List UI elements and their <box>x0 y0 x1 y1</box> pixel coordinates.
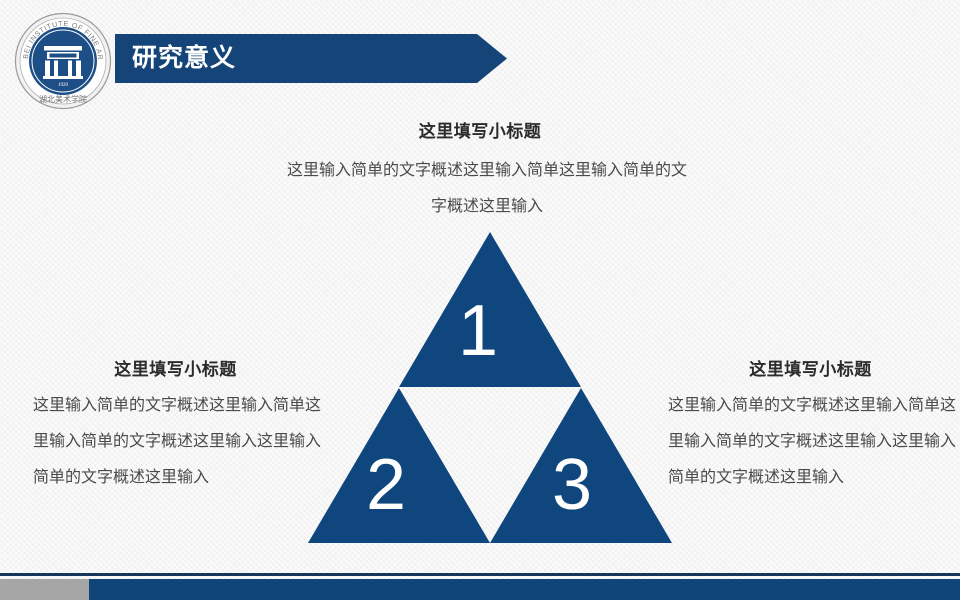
left-block-body: 这里输入简单的文字概述这里输入简单这里输入简单的文字概述这里输入这里输入简单的文… <box>33 388 321 496</box>
left-block-title: 这里填写小标题 <box>33 355 318 380</box>
page-title: 研究意义 <box>132 34 236 83</box>
seal-chinese-name: 湖北美术学院 <box>39 94 87 104</box>
top-block-title: 这里填写小标题 <box>0 117 960 142</box>
footer-divider <box>0 573 960 576</box>
footer-bar <box>0 579 960 600</box>
university-seal-logo: 1920 HUBEI INSTITUTE OF FINE ARTS 湖北美术学院 <box>14 12 112 110</box>
header-banner: 研究意义 <box>115 34 507 83</box>
triangle-number-2: 2 <box>366 449 406 521</box>
right-block-title: 这里填写小标题 <box>668 355 953 380</box>
sierpinski-triangle-diagram: 1 2 3 <box>308 232 672 543</box>
top-block-body: 这里输入简单的文字概述这里输入简单这里输入简单的文字概述这里输入 <box>287 153 687 225</box>
triangle-number-1: 1 <box>458 295 498 367</box>
footer-bar-gray-segment <box>0 579 89 600</box>
slide-canvas: 1920 HUBEI INSTITUTE OF FINE ARTS 湖北美术学院… <box>0 0 960 600</box>
triangle-number-3: 3 <box>552 449 592 521</box>
seal-year: 1920 <box>58 83 69 88</box>
footer-bar-blue-segment <box>89 579 960 600</box>
right-block-body: 这里输入简单的文字概述这里输入简单这里输入简单的文字概述这里输入这里输入简单的文… <box>668 388 956 496</box>
seal-icon: 1920 HUBEI INSTITUTE OF FINE ARTS 湖北美术学院 <box>14 12 112 110</box>
